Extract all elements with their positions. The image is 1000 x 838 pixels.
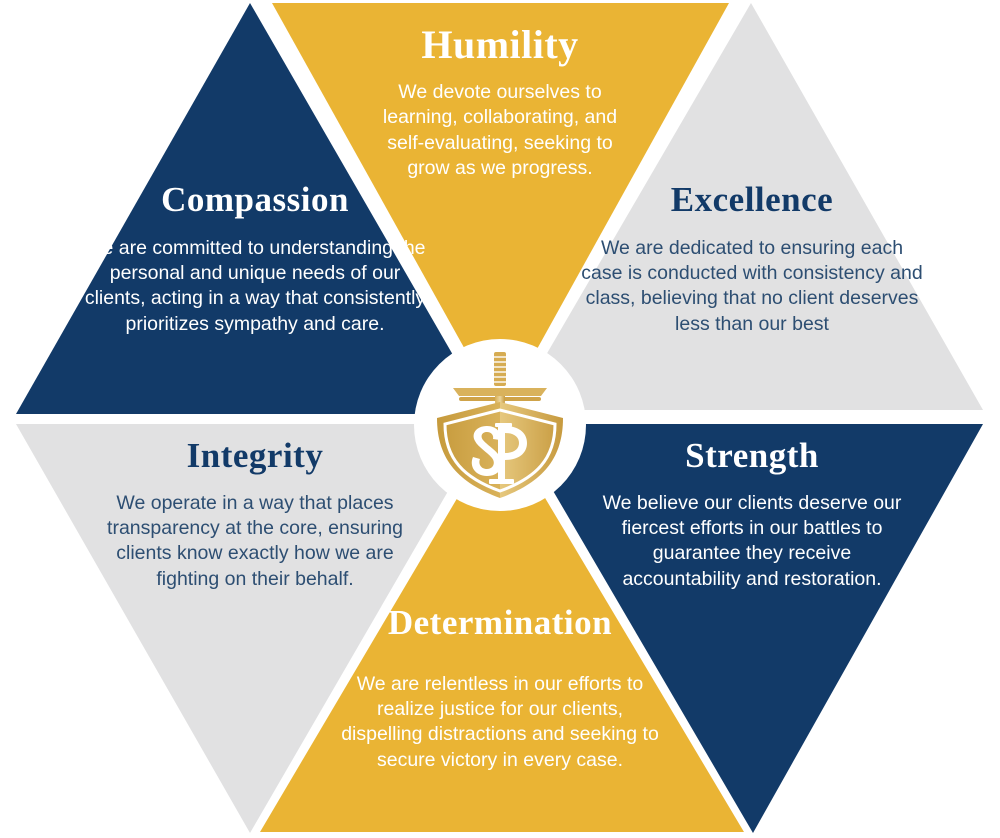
sword-grip-icon — [494, 352, 506, 386]
core-values-hexagon-diagram: Humility We devote ourselves to learning… — [0, 0, 1000, 838]
shield-sword-monogram-logo — [415, 340, 585, 510]
